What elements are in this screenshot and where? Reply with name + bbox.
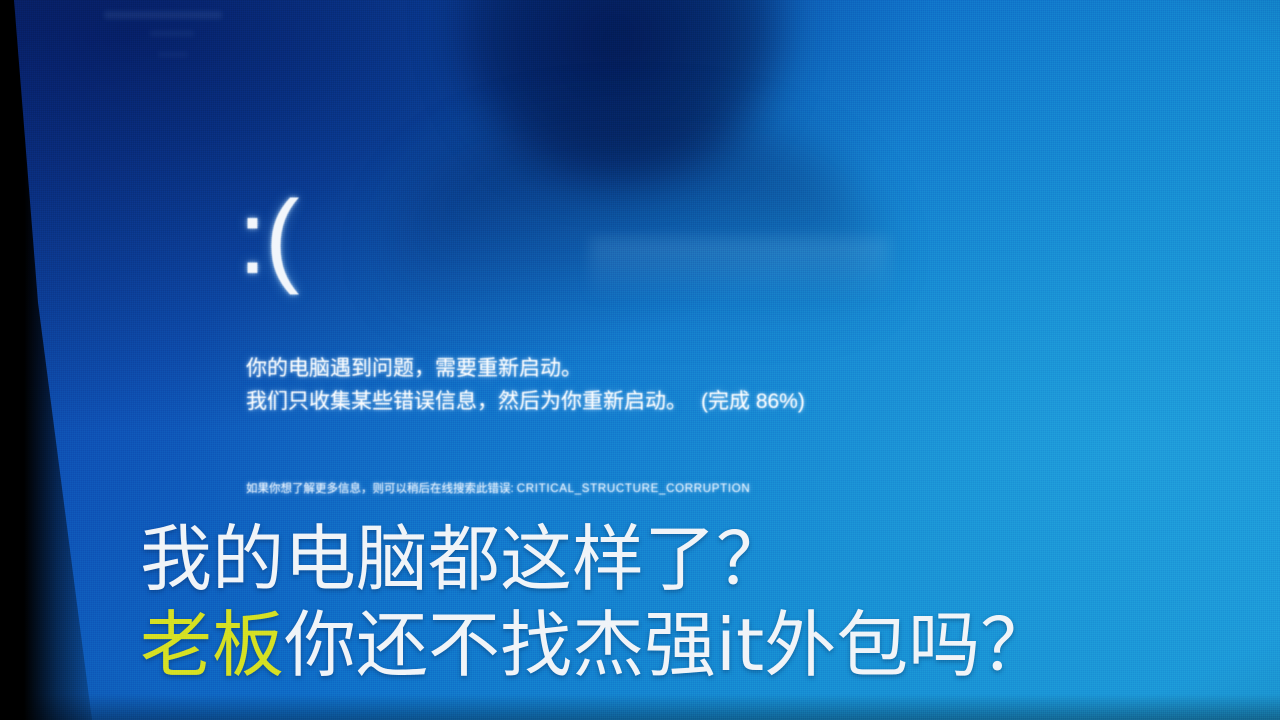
bsod-stop-code: CRITICAL_STRUCTURE_CORRUPTION	[517, 483, 751, 495]
overlay-caption: 我的电脑都这样了？ 老板你还不找杰强it外包吗？	[140, 516, 1260, 688]
caption-line-2: 老板你还不找杰强it外包吗？	[140, 602, 1260, 688]
bsod-detail-prefix: 如果你想了解更多信息，则可以稍后在线搜索此错误:	[246, 483, 514, 495]
bsod-message-line-2: 我们只收集某些错误信息，然后为你重新启动。(完成 86%)	[246, 385, 1066, 418]
bsod-progress-label: (完成 86%)	[701, 390, 805, 413]
caption-line-2-rest: 你还不找杰强it外包吗？	[284, 603, 1052, 687]
caption-highlight-text: 老板	[140, 603, 284, 687]
bsod-message-line-1: 你的电脑遇到问题，需要重新启动。	[246, 352, 1066, 385]
bsod-message-line-2-text: 我们只收集某些错误信息，然后为你重新启动。	[246, 390, 687, 413]
monitor-bezel-bottom	[0, 694, 1280, 720]
caption-line-1: 我的电脑都这样了？	[140, 516, 1260, 602]
bsod-detail-line: 如果你想了解更多信息，则可以稍后在线搜索此错误:CRITICAL_STRUCTU…	[246, 481, 750, 497]
sad-face-emoticon: :(	[238, 186, 298, 290]
bsod-message-block: 你的电脑遇到问题，需要重新启动。 我们只收集某些错误信息，然后为你重新启动。(完…	[246, 352, 1066, 418]
bsod-photo: :( 你的电脑遇到问题，需要重新启动。 我们只收集某些错误信息，然后为你重新启动…	[0, 0, 1280, 720]
